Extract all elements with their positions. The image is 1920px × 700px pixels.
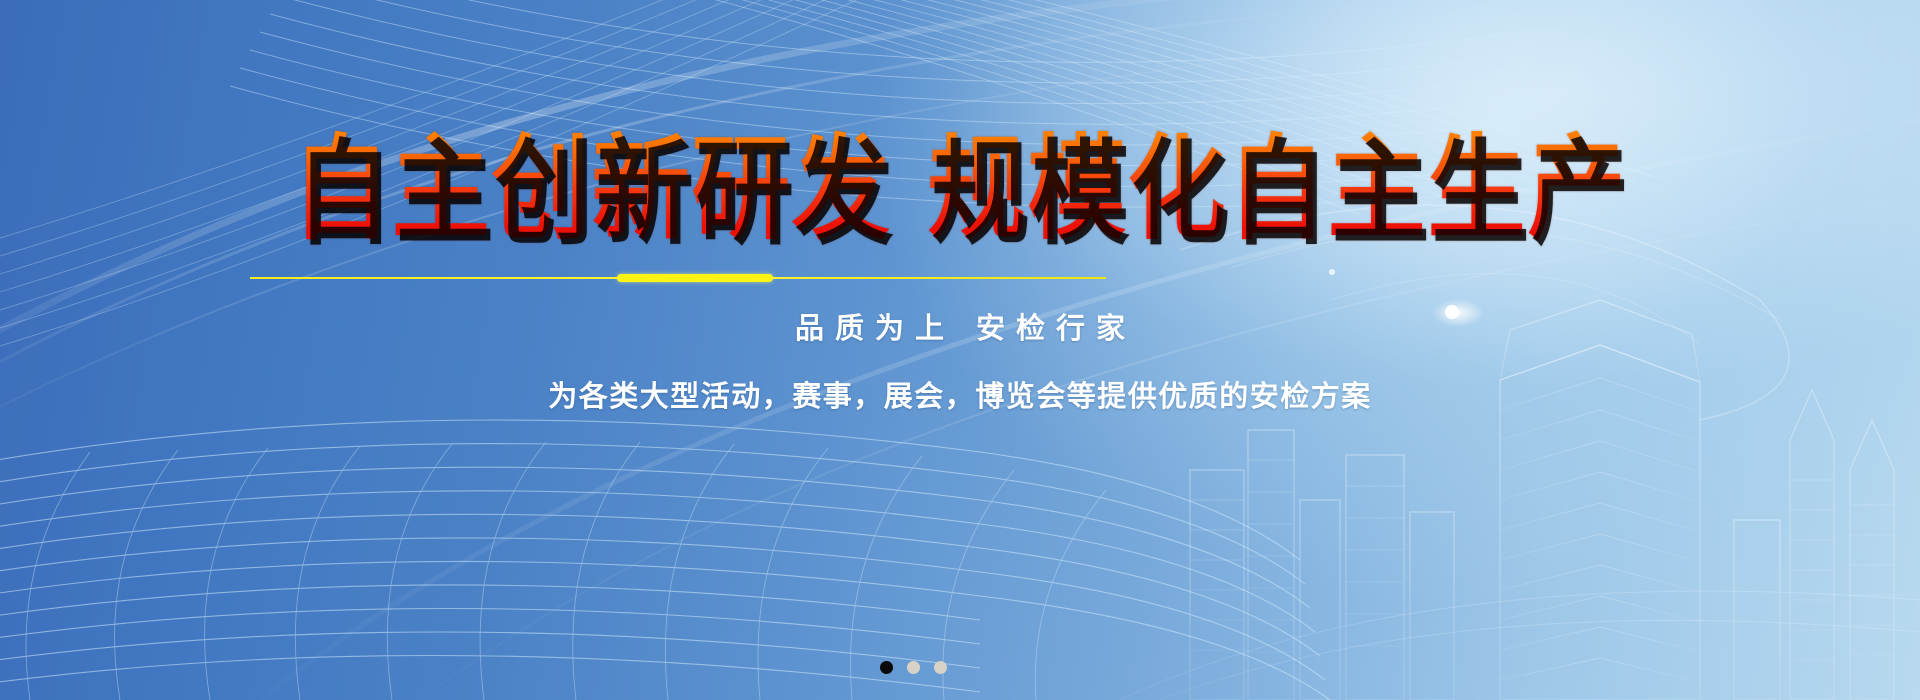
divider-accent-bar	[617, 274, 773, 282]
title-container: 自主创新研发 规模化自主生产	[0, 60, 1920, 299]
hero-banner: 自主创新研发 规模化自主生产 品质为上 安检行家 为各类大型活动，赛事，展会，博…	[0, 0, 1920, 700]
carousel-indicators[interactable]	[880, 661, 947, 674]
yellow-divider	[250, 274, 1106, 282]
banner-description: 为各类大型活动，赛事，展会，博览会等提供优质的安检方案	[0, 373, 1920, 415]
banner-title: 自主创新研发 规模化自主生产	[292, 124, 1628, 254]
banner-subtitle: 品质为上 安检行家	[0, 305, 1920, 347]
carousel-dot-1[interactable]	[880, 661, 893, 674]
carousel-dot-3[interactable]	[934, 661, 947, 674]
carousel-dot-2[interactable]	[907, 661, 920, 674]
subtext-container: 品质为上 安检行家 为各类大型活动，赛事，展会，博览会等提供优质的安检方案	[0, 305, 1920, 415]
